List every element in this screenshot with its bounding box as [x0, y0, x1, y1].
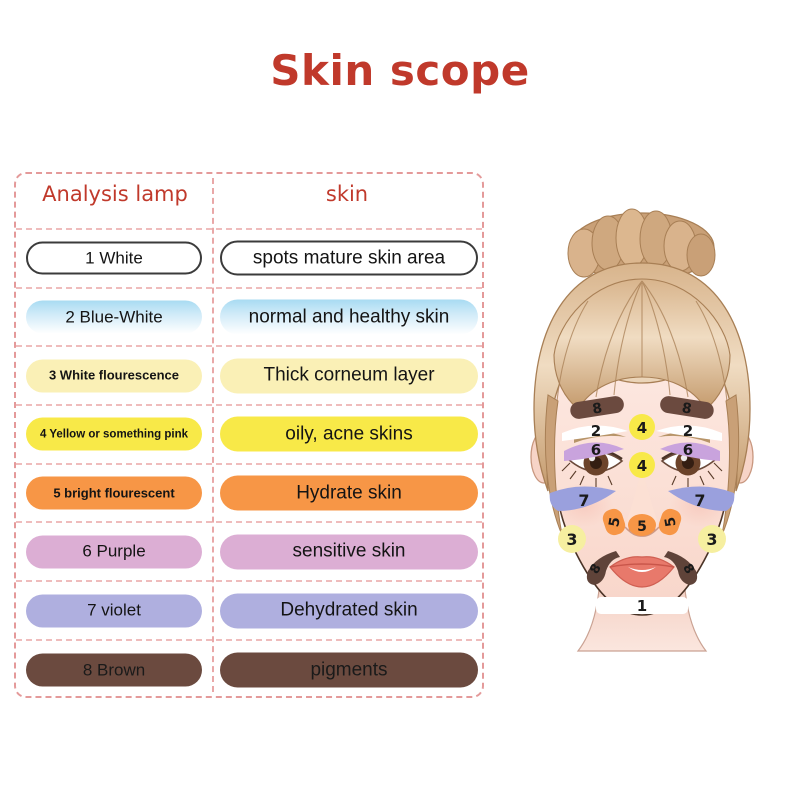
skin-pill-1: spots mature skin area — [220, 241, 478, 276]
page-title: Skin scope — [0, 46, 800, 95]
svg-text:4: 4 — [637, 419, 647, 437]
table-row: 3 White flourescence Thick corneum layer — [16, 347, 482, 406]
marker-4-glabella-upper: 4 — [629, 414, 655, 440]
table-row: 4 Yellow or something pink oily, acne sk… — [16, 406, 482, 465]
marker-3-right-cheek: 3 — [698, 525, 726, 553]
skin-pill-2: normal and healthy skin — [220, 300, 478, 335]
lamp-pill-2: 2 Blue-White — [26, 301, 202, 334]
table-row: 7 violet Dehydrated skin — [16, 582, 482, 641]
lamp-pill-1: 1 White — [26, 242, 202, 275]
svg-text:3: 3 — [566, 530, 577, 549]
skin-pill-6: sensitive skin — [220, 534, 478, 569]
header-skin: skin — [214, 182, 480, 206]
table-row: 6 Purple sensitive skin — [16, 524, 482, 583]
lamp-pill-4: 4 Yellow or something pink — [26, 418, 202, 451]
svg-text:6: 6 — [591, 441, 601, 459]
table-row: 5 bright flourescent Hydrate skin — [16, 465, 482, 524]
table-header-row: Analysis lamp skin — [16, 174, 482, 230]
svg-text:1: 1 — [637, 597, 647, 615]
marker-1-chin: 1 — [596, 597, 688, 615]
lamp-pill-7: 7 violet — [26, 594, 202, 627]
lamp-pill-6: 6 Purple — [26, 535, 202, 568]
svg-text:3: 3 — [706, 530, 717, 549]
lamp-pill-8: 8 Brown — [26, 654, 202, 687]
svg-text:6: 6 — [683, 441, 693, 459]
svg-text:7: 7 — [694, 491, 705, 510]
skin-pill-8: pigments — [220, 653, 478, 688]
skin-pill-3: Thick corneum layer — [220, 358, 478, 393]
marker-3-left-cheek: 3 — [558, 525, 586, 553]
svg-text:2: 2 — [591, 422, 601, 440]
header-analysis-lamp: Analysis lamp — [22, 182, 208, 206]
skin-pill-4: oily, acne skins — [220, 417, 478, 452]
marker-5-nose-tip: 5 — [628, 514, 656, 536]
svg-text:5: 5 — [637, 519, 647, 535]
table-row: 2 Blue-White normal and healthy skin — [16, 289, 482, 348]
marker-4-glabella-lower: 4 — [629, 452, 655, 478]
table-row: 8 Brown pigments — [16, 641, 482, 700]
table-row: 1 White spots mature skin area — [16, 230, 482, 289]
svg-text:2: 2 — [683, 422, 693, 440]
skin-pill-5: Hydrate skin — [220, 476, 478, 511]
skin-pill-7: Dehydrated skin — [220, 593, 478, 628]
analysis-lamp-table: Analysis lamp skin 1 White spots mature … — [14, 172, 484, 698]
lamp-pill-5: 5 bright flourescent — [26, 477, 202, 510]
face-diagram: 8 8 2 2 4 4 6 6 7 7 5 — [492, 205, 792, 705]
svg-text:4: 4 — [637, 457, 647, 475]
lamp-pill-3: 3 White flourescence — [26, 359, 202, 392]
svg-text:7: 7 — [578, 491, 589, 510]
